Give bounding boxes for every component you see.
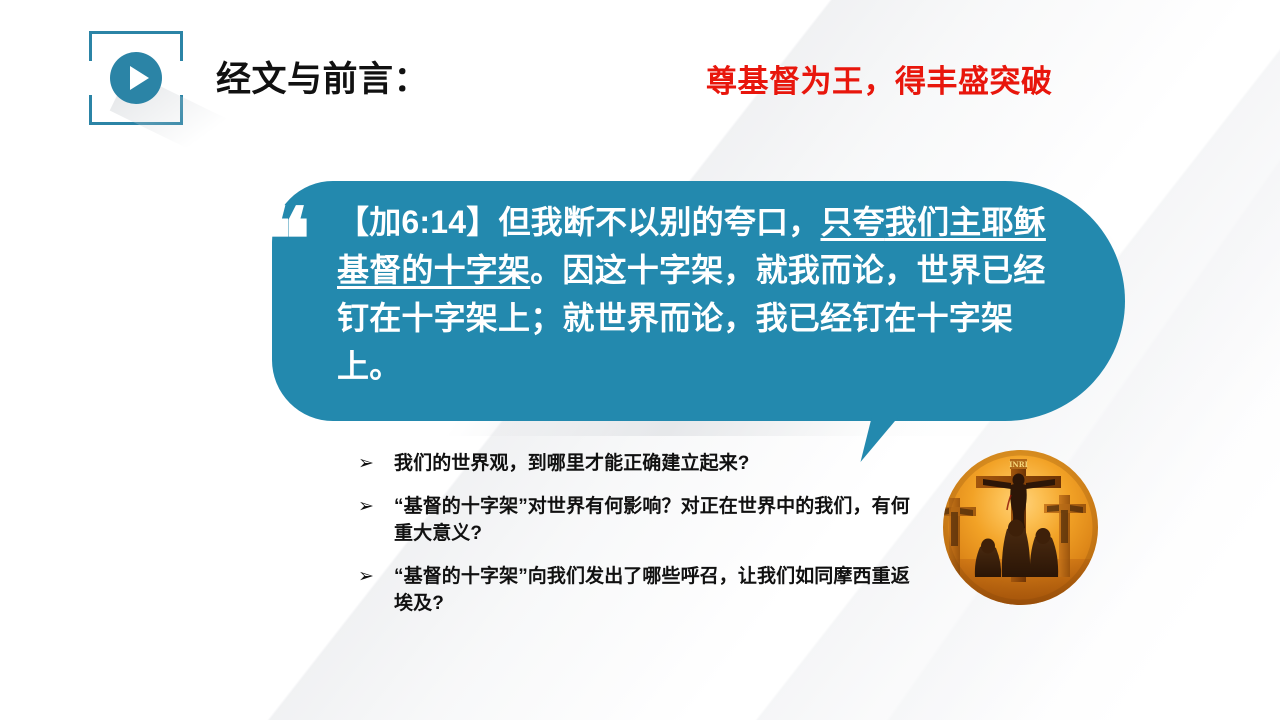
svg-text:INRI: INRI — [1009, 460, 1028, 469]
frame-edge-left-upper — [89, 31, 92, 61]
verse-reference: 【加6:14】 — [337, 204, 498, 240]
list-item-label: “基督的十字架”向我们发出了哪些呼召，让我们如同摩西重返埃及? — [394, 563, 928, 617]
mourning-figures — [975, 520, 1058, 578]
frame-edge-left-lower — [89, 95, 92, 125]
verse-segment-plain-2: 。因这十字架， — [530, 252, 755, 288]
frame-edge-bottom — [89, 122, 183, 125]
list-item: ➢ “基督的十字架”对世界有何影响？对正在世界中的我们，有何重大意义? — [358, 493, 928, 547]
slide-canvas: 经文与前言： 尊基督为王，得丰盛突破 ❝ 【加6:14】但我断不以别的夸口，只夸… — [0, 0, 1280, 720]
list-item-label: 我们的世界观，到哪里才能正确建立起来? — [394, 450, 928, 477]
play-button-in-frame-icon — [89, 31, 183, 125]
arrow-bullet-icon: ➢ — [358, 450, 394, 477]
verse-segment-plain-1: 但我断不以别的夸口， — [498, 204, 820, 240]
frame-edge-right-lower — [180, 95, 183, 125]
arrow-bullet-icon: ➢ — [358, 493, 394, 520]
play-circle-icon — [110, 52, 162, 104]
crucifixion-image: INRI — [943, 450, 1098, 605]
list-item: ➢ 我们的世界观，到哪里才能正确建立起来? — [358, 450, 928, 477]
scripture-verse: 【加6:14】但我断不以别的夸口，只夸我们主耶稣基督的十字架。因这十字架，就我而… — [337, 198, 1055, 390]
play-triangle-icon — [130, 66, 149, 90]
frame-edge-right-upper — [180, 31, 183, 61]
question-list: ➢ 我们的世界观，到哪里才能正确建立起来? ➢ “基督的十字架”对世界有何影响？… — [358, 450, 928, 633]
arrow-bullet-icon: ➢ — [358, 563, 394, 590]
list-item-label: “基督的十字架”对世界有何影响？对正在世界中的我们，有何重大意义? — [394, 493, 928, 547]
frame-edge-top — [89, 31, 183, 34]
quotation-mark-icon: ❝ — [264, 197, 308, 283]
crucifixion-illustration: INRI — [943, 450, 1098, 605]
page-subtitle: 尊基督为王，得丰盛突破 — [706, 56, 1053, 101]
list-item: ➢ “基督的十字架”向我们发出了哪些呼召，让我们如同摩西重返埃及? — [358, 563, 928, 617]
page-title: 经文与前言： — [216, 51, 429, 102]
verse-segment-underlined-1: 只夸 — [820, 204, 884, 240]
